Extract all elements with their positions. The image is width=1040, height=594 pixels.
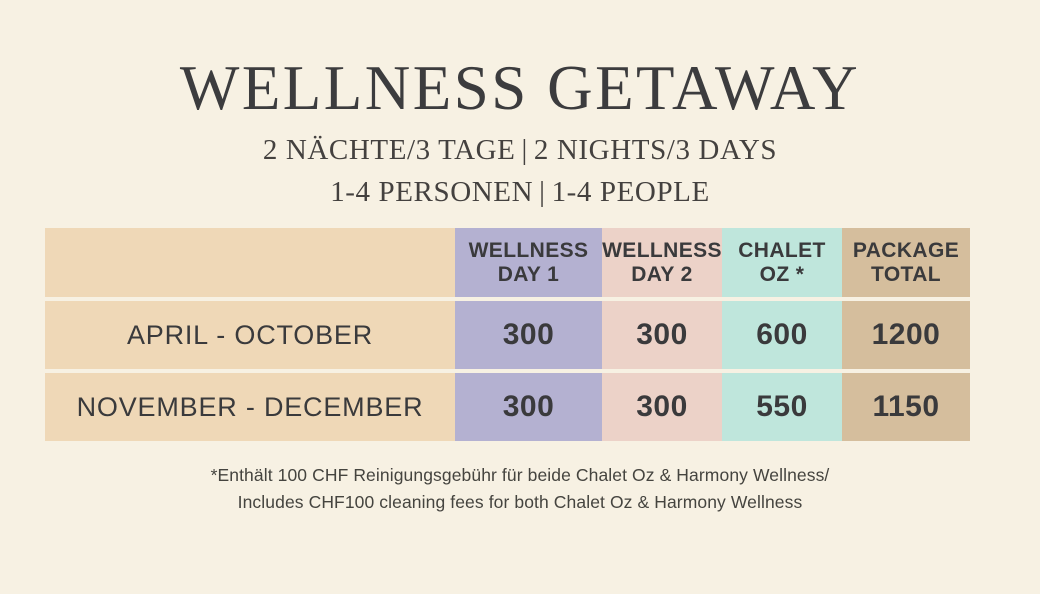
header-wellness-day-2-line1: WELLNESS <box>602 239 722 263</box>
header-cell-chalet-oz: CHALET OZ * <box>722 228 842 297</box>
cell-season-2-wellness-day-1: 300 <box>455 373 602 441</box>
header-package-total-line1: PACKAGE <box>853 239 959 263</box>
header-wellness-day-1-line1: WELLNESS <box>469 239 589 263</box>
header-cell-wellness-day-1: WELLNESS DAY 1 <box>455 228 602 297</box>
wellness-getaway-price-card: WELLNESS GETAWAY 2 NÄCHTE/3 TAGE|2 NIGHT… <box>0 0 1040 594</box>
header-chalet-oz-line1: CHALET <box>738 239 826 263</box>
cell-season-1-wellness-day-2: 300 <box>602 301 722 369</box>
cell-season-2-wellness-day-2: 300 <box>602 373 722 441</box>
header-cell-empty <box>45 228 455 297</box>
table-row: NOVEMBER - DECEMBER 300 300 550 1150 <box>45 373 970 441</box>
subtitle-duration: 2 NÄCHTE/3 TAGE|2 NIGHTS/3 DAYS <box>0 130 1040 170</box>
subtitle-duration-separator: | <box>516 134 534 166</box>
subtitle-occupancy-en: 1-4 PEOPLE <box>552 176 710 208</box>
cell-season-2-package-total: 1150 <box>842 373 970 441</box>
subtitle-duration-de: 2 NÄCHTE/3 TAGE <box>263 134 516 166</box>
table-header-row: WELLNESS DAY 1 WELLNESS DAY 2 CHALET OZ … <box>45 228 970 297</box>
footnote-line-en: Includes CHF100 cleaning fees for both C… <box>0 489 1040 516</box>
subtitle-duration-en: 2 NIGHTS/3 DAYS <box>534 134 777 166</box>
cell-season-2-chalet-oz: 550 <box>722 373 842 441</box>
row-label-season-2: NOVEMBER - DECEMBER <box>45 373 455 441</box>
heading-block: WELLNESS GETAWAY 2 NÄCHTE/3 TAGE|2 NIGHT… <box>0 52 1040 212</box>
footnote-line-de: *Enthält 100 CHF Reinigungsgebühr für be… <box>0 462 1040 489</box>
header-cell-wellness-day-2: WELLNESS DAY 2 <box>602 228 722 297</box>
table-row: APRIL - OCTOBER 300 300 600 1200 <box>45 301 970 369</box>
footnote: *Enthält 100 CHF Reinigungsgebühr für be… <box>0 462 1040 516</box>
cell-season-1-wellness-day-1: 300 <box>455 301 602 369</box>
subtitle-occupancy-de: 1-4 PERSONEN <box>330 176 533 208</box>
subtitle-occupancy-separator: | <box>533 176 551 208</box>
pricing-table: WELLNESS DAY 1 WELLNESS DAY 2 CHALET OZ … <box>45 228 970 441</box>
cell-season-1-package-total: 1200 <box>842 301 970 369</box>
header-cell-package-total: PACKAGE TOTAL <box>842 228 970 297</box>
page-title: WELLNESS GETAWAY <box>0 52 1040 124</box>
row-label-season-1: APRIL - OCTOBER <box>45 301 455 369</box>
header-package-total-line2: TOTAL <box>853 263 959 287</box>
header-chalet-oz-line2: OZ * <box>738 263 826 287</box>
header-wellness-day-1-line2: DAY 1 <box>469 263 589 287</box>
header-wellness-day-2-line2: DAY 2 <box>602 263 722 287</box>
cell-season-1-chalet-oz: 600 <box>722 301 842 369</box>
subtitle-occupancy: 1-4 PERSONEN|1-4 PEOPLE <box>0 172 1040 212</box>
